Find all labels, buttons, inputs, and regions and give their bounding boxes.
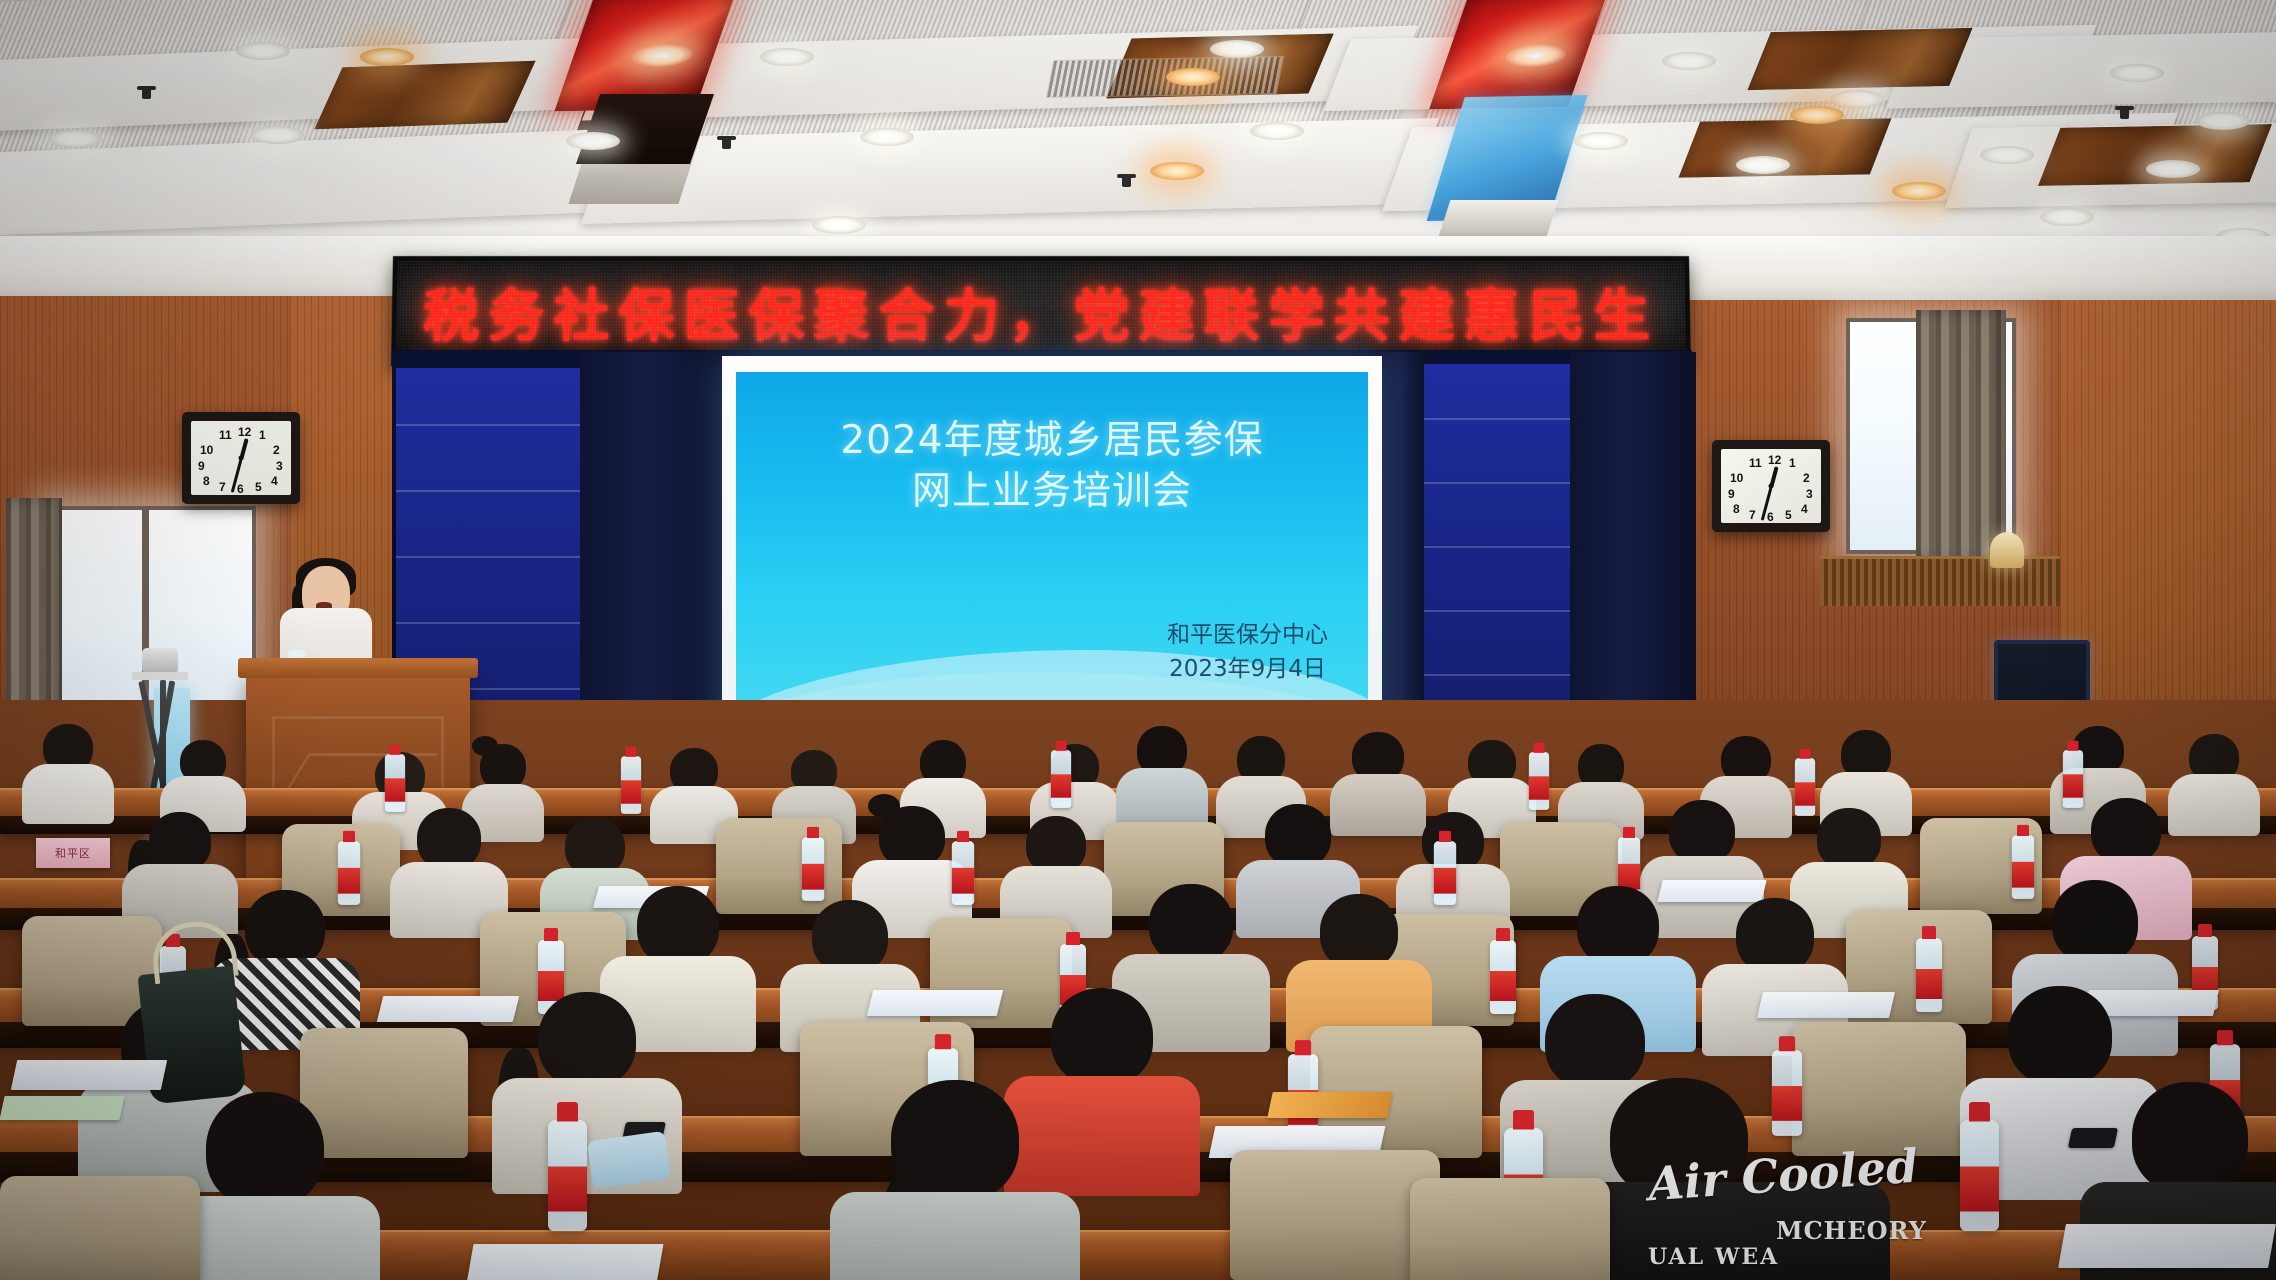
curtain-right (1916, 310, 2006, 562)
chair (1410, 1178, 1610, 1280)
handout-paper (466, 1244, 663, 1280)
sprinkler-head (142, 86, 151, 99)
handout-paper (867, 990, 1003, 1016)
slide-title-line-2: 网上业务培训会 (736, 467, 1368, 518)
attendee (1000, 816, 1112, 932)
water-bottle (621, 756, 641, 814)
chair (1230, 1150, 1440, 1280)
handout-paper (1267, 1092, 1393, 1118)
slide-organization: 和平医保分中心 (1167, 619, 1328, 652)
handout-paper (11, 1060, 167, 1090)
stage-band-navy-far-right (1570, 352, 1696, 758)
wall-wood-far-right (2060, 300, 2276, 760)
wall-clock-right: 12 1 2 3 4 5 6 7 8 9 10 11 (1712, 440, 1830, 532)
water-bottle (1529, 752, 1549, 810)
slide-footer: 和平医保分中心 2023年9月4日 (1167, 619, 1328, 686)
wall-sconce (1990, 532, 2024, 568)
attendee (1116, 726, 1208, 830)
led-banner-text: 税务社保医保聚合力，党建联学共建惠民生 (396, 271, 1685, 352)
attendee (1286, 894, 1432, 1046)
sprinkler-head (722, 136, 731, 149)
water-bottle (952, 841, 974, 905)
water-bottle (1051, 750, 1071, 808)
tripod-plate (132, 672, 188, 680)
water-bottle (548, 1120, 587, 1231)
slide-date: 2023年9月4日 (1167, 653, 1328, 686)
shirt-text-casual-wear: UAL WEA (1648, 1244, 1779, 1270)
conference-hall-photo: 税务社保医保聚合力，党建联学共建惠民生 2024年度城乡居民参保 网上业务培训会… (0, 0, 2276, 1280)
wall-clock-left: 12 1 2 3 4 5 6 7 8 9 10 11 (182, 412, 300, 504)
water-bottle (1916, 938, 1942, 1012)
video-camera (142, 648, 178, 674)
handout-paper (2058, 1224, 2276, 1268)
handout-paper (1757, 992, 1895, 1018)
attendee (830, 1080, 1080, 1280)
shirt-text-brand: MCHEORY (1776, 1216, 1927, 1245)
sprinkler-head (1122, 174, 1131, 187)
water-bottle (1960, 1120, 1999, 1231)
table-name-card: 和平区 (36, 838, 110, 868)
slide-title-line-1: 2024年度城乡居民参保 (736, 416, 1368, 467)
water-bottle (802, 837, 824, 901)
water-bottle (1434, 841, 1456, 905)
attendee (390, 808, 508, 930)
slide-canvas: 2024年度城乡居民参保 网上业务培训会 和平医保分中心 2023年9月4日 (736, 372, 1368, 740)
attendee (22, 724, 114, 820)
stage-panel-blue-right (1424, 364, 1574, 756)
chair (0, 1176, 200, 1280)
water-bottle (385, 754, 405, 812)
slide-title: 2024年度城乡居民参保 网上业务培训会 (736, 416, 1368, 517)
projection-screen: 2024年度城乡居民参保 网上业务培训会 和平医保分中心 2023年9月4日 (722, 356, 1382, 756)
ceiling (0, 0, 2276, 252)
radiator-right (1820, 556, 2060, 606)
handout-paper (0, 1096, 125, 1120)
sprinkler-head (2120, 106, 2129, 119)
name-card-text: 和平区 (55, 845, 91, 861)
stage-band-navy-right (1378, 352, 1428, 756)
